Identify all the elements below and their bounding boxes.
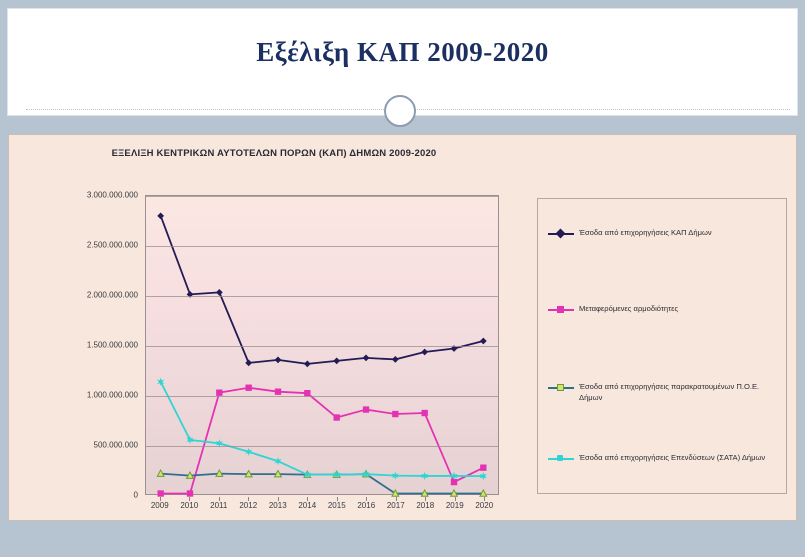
legend-label-1: Έσοδα από επιχορηγήσεις ΚΑΠ Δήμων bbox=[574, 227, 712, 238]
data-point-marker bbox=[363, 406, 369, 412]
grid-line bbox=[146, 446, 498, 447]
plot-area bbox=[145, 195, 499, 495]
slide: Εξέλιξη ΚΑΠ 2009-2020 ΕΞΕΛΙΞΗ ΚΕΝΤΡΙΚΩΝ … bbox=[0, 0, 805, 557]
y-tick-label: 1.000.000.000 bbox=[87, 391, 138, 400]
data-point-marker bbox=[363, 355, 370, 362]
legend-swatch-triangle-icon bbox=[548, 382, 574, 393]
series-2 bbox=[157, 385, 486, 497]
legend-item-4[interactable]: Έσοδα από επιχορηγήσεις Επενδύσεων (ΣΑΤΑ… bbox=[548, 452, 783, 464]
data-point-marker bbox=[333, 414, 339, 420]
title-circle-ornament bbox=[384, 95, 416, 127]
x-tick-label: 2016 bbox=[357, 501, 375, 510]
series-line bbox=[161, 388, 484, 494]
y-tick-label: 500.000.000 bbox=[94, 441, 139, 450]
x-tick-label: 2013 bbox=[269, 501, 287, 510]
legend-swatch-diamond-icon bbox=[548, 228, 574, 239]
data-point-marker bbox=[275, 389, 281, 395]
data-point-marker bbox=[275, 357, 282, 364]
grid-line bbox=[146, 246, 498, 247]
x-tick-label: 2019 bbox=[446, 501, 464, 510]
data-point-marker bbox=[480, 338, 487, 345]
data-point-marker bbox=[187, 490, 193, 496]
legend-label-3: Έσοδα από επιχορηγήσεις παρακρατουμένων … bbox=[574, 381, 783, 403]
data-point-marker bbox=[157, 212, 164, 219]
x-tick-label: 2012 bbox=[239, 501, 257, 510]
chart-card: ΕΞΕΛΙΞΗ ΚΕΝΤΡΙΚΩΝ ΑΥΤΟΤΕΛΩΝ ΠΟΡΩΝ (ΚΑΠ) … bbox=[8, 134, 797, 521]
y-tick-label: 1.500.000.000 bbox=[87, 341, 138, 350]
legend-item-3[interactable]: Έσοδα από επιχορηγήσεις παρακρατουμένων … bbox=[548, 381, 783, 403]
grid-line bbox=[146, 196, 498, 197]
grid-line bbox=[146, 396, 498, 397]
page-title: Εξέλιξη ΚΑΠ 2009-2020 bbox=[8, 37, 797, 68]
y-tick-label: 0 bbox=[134, 491, 138, 500]
y-tick-label: 2.500.000.000 bbox=[87, 241, 138, 250]
data-point-marker bbox=[392, 356, 399, 363]
data-point-marker bbox=[333, 358, 340, 365]
legend-swatch-star-icon bbox=[548, 453, 574, 464]
x-tick-label: 2010 bbox=[180, 501, 198, 510]
y-tick-label: 2.000.000.000 bbox=[87, 291, 138, 300]
grid-line bbox=[146, 346, 498, 347]
grid-line bbox=[146, 296, 498, 297]
y-tick-label: 3.000.000.000 bbox=[87, 191, 138, 200]
data-point-marker bbox=[245, 385, 251, 391]
series-4 bbox=[157, 378, 487, 481]
chart-legend: Έσοδα από επιχορηγήσεις ΚΑΠ ΔήμωνΜεταφερ… bbox=[537, 198, 787, 494]
data-point-marker bbox=[392, 411, 398, 417]
x-axis: 2009201020112012201320142015201620172018… bbox=[145, 497, 499, 517]
data-point-marker bbox=[216, 289, 223, 296]
x-tick-label: 2015 bbox=[328, 501, 346, 510]
plot-wrapper: 0500.000.0001.000.000.0001.500.000.0002.… bbox=[67, 195, 507, 505]
x-tick-label: 2020 bbox=[475, 501, 493, 510]
data-point-marker bbox=[157, 490, 163, 496]
data-point-marker bbox=[304, 360, 311, 367]
x-tick-label: 2014 bbox=[298, 501, 316, 510]
x-tick-label: 2018 bbox=[416, 501, 434, 510]
legend-label-4: Έσοδα από επιχορηγήσεις Επενδύσεων (ΣΑΤΑ… bbox=[574, 452, 765, 463]
x-tick-label: 2017 bbox=[387, 501, 405, 510]
x-tick-label: 2009 bbox=[151, 501, 169, 510]
data-point-marker bbox=[421, 410, 427, 416]
chart-title: ΕΞΕΛΙΞΗ ΚΕΝΤΡΙΚΩΝ ΑΥΤΟΤΕΛΩΝ ΠΟΡΩΝ (ΚΑΠ) … bbox=[9, 148, 539, 159]
y-axis: 0500.000.0001.000.000.0001.500.000.0002.… bbox=[67, 195, 144, 495]
data-point-marker bbox=[480, 464, 486, 470]
series-layer bbox=[146, 196, 498, 494]
data-point-marker bbox=[245, 360, 252, 367]
legend-swatch-square-icon bbox=[548, 304, 574, 315]
legend-item-2[interactable]: Μεταφερόμενες αρμοδιότητες bbox=[548, 303, 783, 315]
data-point-marker bbox=[157, 378, 164, 386]
x-tick-label: 2011 bbox=[210, 501, 227, 510]
series-1 bbox=[157, 212, 486, 367]
data-point-marker bbox=[216, 390, 222, 396]
legend-item-1[interactable]: Έσοδα από επιχορηγήσεις ΚΑΠ Δήμων bbox=[548, 227, 783, 239]
series-line bbox=[161, 216, 484, 364]
data-point-marker bbox=[421, 349, 428, 356]
legend-label-2: Μεταφερόμενες αρμοδιότητες bbox=[574, 303, 678, 314]
title-banner: Εξέλιξη ΚΑΠ 2009-2020 bbox=[7, 8, 798, 116]
